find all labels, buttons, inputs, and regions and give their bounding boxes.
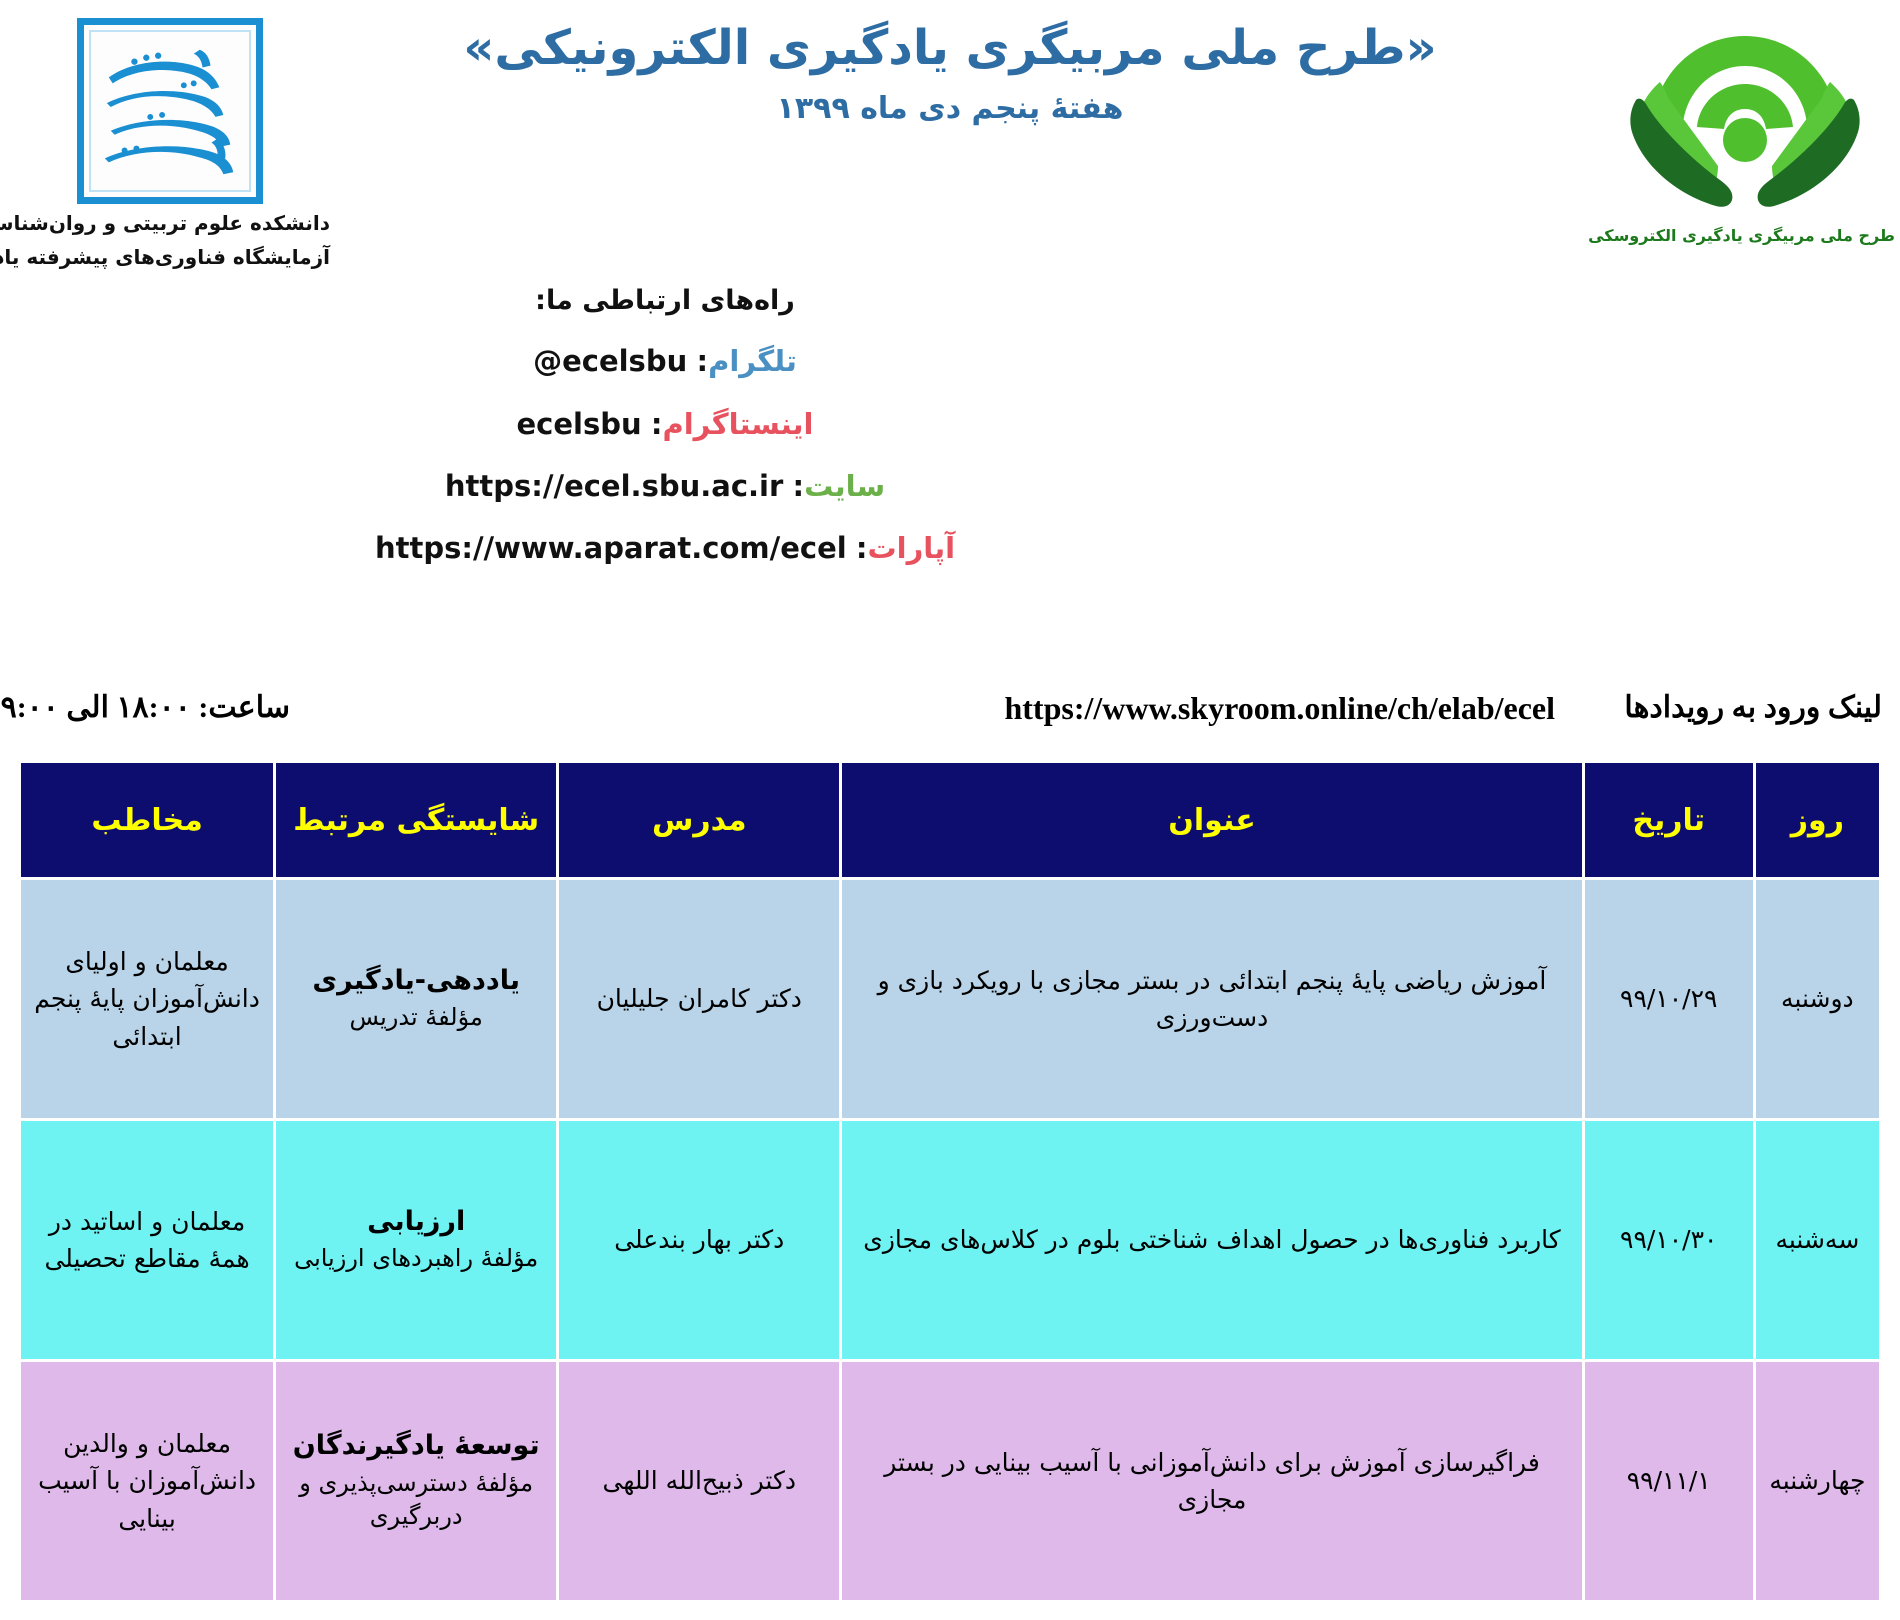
competency-main: توسعهٔ یادگیرندگان	[288, 1428, 544, 1464]
column-header-audience: مخاطب	[21, 763, 273, 877]
schedule-table-container: روز تاریخ عنوان مدرس شایستگی مرتبط مخاطب…	[18, 760, 1882, 1603]
contact-label-website: سایت	[804, 469, 885, 503]
cell-day: چهارشنبه	[1756, 1362, 1879, 1600]
cell-competency: ارزیابی مؤلفهٔ راهبردهای ارزیابی	[276, 1121, 556, 1359]
cell-date: ۹۹/۱۰/۲۹	[1585, 880, 1753, 1118]
cell-day: دوشنبه	[1756, 880, 1879, 1118]
contact-row-website: سایت: https://ecel.sbu.ac.ir	[0, 468, 1330, 530]
table-row: دوشنبه ۹۹/۱۰/۲۹ آموزش ریاضی پایهٔ پنجم ا…	[21, 880, 1879, 1118]
cell-audience: معلمان و والدین دانش‌آموزان با آسیب بینا…	[21, 1362, 273, 1600]
competency-main: یاددهی-یادگیری	[288, 963, 544, 999]
contact-row-aparat: آپارات: https://www.aparat.com/ecel	[0, 530, 1330, 592]
competency-main: ارزیابی	[288, 1204, 544, 1240]
cell-audience: معلمان و اساتید در همهٔ مقاطع تحصیلی	[21, 1121, 273, 1359]
university-branding: دانشکده علوم تربیتی و روان‌شناسی آزمایشگ…	[10, 10, 330, 272]
table-header: روز تاریخ عنوان مدرس شایستگی مرتبط مخاطب	[21, 763, 1879, 877]
contact-value-website[interactable]: https://ecel.sbu.ac.ir	[445, 468, 783, 504]
ecel-logo-caption: طرح ملی مربیگری یادگیری الکتروسکی	[1595, 226, 1895, 245]
ecel-logo-icon	[1620, 14, 1870, 224]
contact-row-telegram: تلگرام: @ecelsbu	[0, 343, 1330, 405]
contact-row-instagram: اینستاگرام: ecelsbu	[0, 406, 1330, 468]
cell-instructor: دکتر بهار بندعلی	[559, 1121, 839, 1359]
faculty-name: دانشکده علوم تربیتی و روان‌شناسی	[10, 208, 330, 238]
competency-sub: مؤلفهٔ تدریس	[288, 1001, 544, 1035]
competency-sub: مؤلفهٔ راهبردهای ارزیابی	[288, 1242, 544, 1276]
sbu-logo	[77, 18, 263, 204]
table-body: دوشنبه ۹۹/۱۰/۲۹ آموزش ریاضی پایهٔ پنجم ا…	[21, 880, 1879, 1600]
column-header-day: روز	[1756, 763, 1879, 877]
page-title: «طرح ملی مربیگری یادگیری الکترونیکی»	[380, 18, 1520, 78]
page-subtitle: هفتهٔ پنجم دی ماه ۱۳۹۹	[380, 88, 1520, 130]
contact-value-telegram[interactable]: @ecelsbu	[533, 343, 687, 379]
contact-label-aparat: آپارات	[868, 531, 956, 565]
cell-title: کاربرد فناوری‌ها در حصول اهداف شناختی بل…	[842, 1121, 1581, 1359]
cell-competency: یاددهی-یادگیری مؤلفهٔ تدریس	[276, 880, 556, 1118]
column-header-competency: شایستگی مرتبط	[276, 763, 556, 877]
cell-day: سه‌شنبه	[1756, 1121, 1879, 1359]
contact-separator: :	[651, 407, 663, 441]
cell-audience: معلمان و اولیای دانش‌آموزان پایهٔ پنجم ا…	[21, 880, 273, 1118]
contact-section: راه‌های ارتباطی ما: تلگرام: @ecelsbu این…	[0, 285, 1330, 592]
contact-separator: :	[856, 531, 868, 565]
cell-title: آموزش ریاضی پایهٔ پنجم ابتدائی در بستر م…	[842, 880, 1581, 1118]
sbu-logo-calligraphy-icon	[89, 30, 251, 192]
event-link-url[interactable]: https://www.skyroom.online/ch/elab/ecel	[1004, 690, 1555, 727]
ecel-branding: طرح ملی مربیگری یادگیری الکتروسکی	[1595, 14, 1895, 245]
competency-sub: مؤلفهٔ دسترسی‌پذیری و دربرگیری	[288, 1467, 544, 1534]
contact-label-instagram: اینستاگرام	[662, 407, 813, 441]
cell-date: ۹۹/۱۱/۱	[1585, 1362, 1753, 1600]
contact-separator: :	[696, 344, 708, 378]
table-row: سه‌شنبه ۹۹/۱۰/۳۰ کاربرد فناوری‌ها در حصو…	[21, 1121, 1879, 1359]
contact-value-instagram[interactable]: ecelsbu	[517, 406, 642, 442]
cell-date: ۹۹/۱۰/۳۰	[1585, 1121, 1753, 1359]
contact-heading: راه‌های ارتباطی ما:	[0, 285, 1330, 343]
cell-title: فراگیرسازی آموزش برای دانش‌آموزانی با آس…	[842, 1362, 1581, 1600]
column-header-instructor: مدرس	[559, 763, 839, 877]
lab-name: آزمایشگاه فناوری‌های پیشرفته یادگیری	[10, 242, 330, 272]
cell-instructor: دکتر کامران جلیلیان	[559, 880, 839, 1118]
contact-label-telegram: تلگرام	[708, 344, 797, 378]
event-link-label: لینک ورود به رویدادها	[1624, 690, 1882, 725]
contact-value-aparat[interactable]: https://www.aparat.com/ecel	[375, 530, 847, 566]
event-time: ساعت: ۱۸:۰۰ الی ۱۹:۰۰	[10, 690, 290, 725]
table-row: چهارشنبه ۹۹/۱۱/۱ فراگیرسازی آموزش برای د…	[21, 1362, 1879, 1600]
column-header-title: عنوان	[842, 763, 1581, 877]
contact-separator: :	[792, 469, 804, 503]
column-header-date: تاریخ	[1585, 763, 1753, 877]
poster-header: دانشکده علوم تربیتی و روان‌شناسی آزمایشگ…	[0, 0, 1900, 300]
schedule-table: روز تاریخ عنوان مدرس شایستگی مرتبط مخاطب…	[18, 760, 1882, 1603]
title-area: «طرح ملی مربیگری یادگیری الکترونیکی» هفت…	[380, 18, 1520, 130]
cell-competency: توسعهٔ یادگیرندگان مؤلفهٔ دسترسی‌پذیری و…	[276, 1362, 556, 1600]
table-header-row: روز تاریخ عنوان مدرس شایستگی مرتبط مخاطب	[21, 763, 1879, 877]
event-info-bar: ساعت: ۱۸:۰۰ الی ۱۹:۰۰ لینک ورود به رویدا…	[0, 690, 1900, 748]
cell-instructor: دکتر ذبیح‌الله اللهی	[559, 1362, 839, 1600]
